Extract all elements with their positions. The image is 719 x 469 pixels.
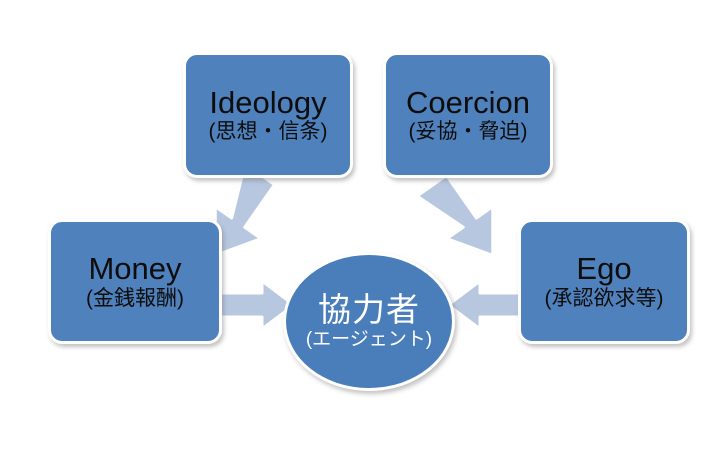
node-ego[interactable]: Ego (承認欲求等) <box>518 219 690 344</box>
node-ideology[interactable]: Ideology (思想・信条) <box>183 52 353 178</box>
arrow-ego-to-center <box>448 281 524 329</box>
arrow-coercion-to-center <box>417 164 516 271</box>
center-node-subtitle: (エージェント) <box>306 330 432 350</box>
node-money[interactable]: Money (金銭報酬) <box>48 219 222 344</box>
node-coercion-subtitle: (妥協・脅迫) <box>409 121 528 143</box>
center-node-title: 協力者 <box>318 293 420 328</box>
node-coercion-title: Coercion <box>406 87 530 120</box>
node-ego-title: Ego <box>576 253 631 286</box>
node-money-subtitle: (金銭報酬) <box>86 288 184 310</box>
node-money-title: Money <box>88 253 181 286</box>
center-node-agent[interactable]: 協力者 (エージェント) <box>283 252 455 391</box>
node-ego-subtitle: (承認欲求等) <box>545 288 664 310</box>
diagram-canvas: Ideology (思想・信条) Coercion (妥協・脅迫) Money … <box>0 0 719 469</box>
node-ideology-subtitle: (思想・信条) <box>209 121 328 143</box>
node-ideology-title: Ideology <box>209 87 326 120</box>
node-coercion[interactable]: Coercion (妥協・脅迫) <box>383 52 553 178</box>
